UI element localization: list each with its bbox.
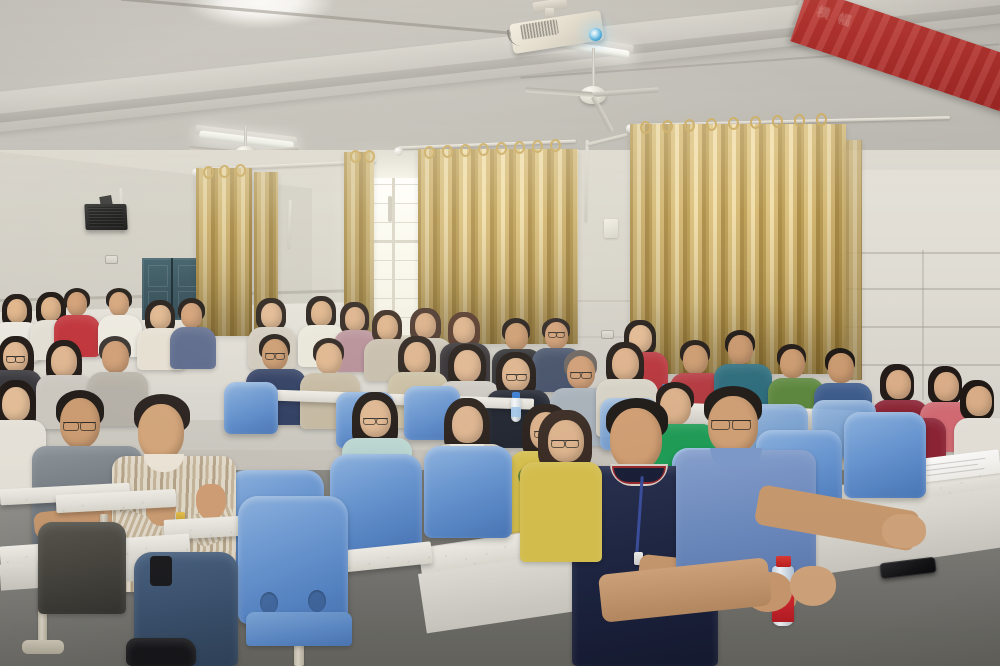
- head: [452, 406, 483, 443]
- curtain-grommet: [424, 146, 435, 159]
- curtain-grommet: [514, 141, 525, 154]
- head: [453, 317, 475, 343]
- curtain-grommet: [706, 118, 717, 131]
- window-frame: [368, 240, 420, 243]
- curtain-grommet: [532, 140, 543, 153]
- head: [612, 348, 639, 380]
- chair-back-front[interactable]: [844, 412, 926, 498]
- door-panel: [178, 265, 198, 287]
- legs-trousers: [38, 522, 126, 614]
- head: [51, 346, 77, 377]
- head: [311, 301, 332, 326]
- water-bottle-mid[interactable]: [510, 392, 522, 422]
- curtain-grommet: [350, 150, 361, 163]
- curtain-grommet: [816, 113, 827, 126]
- curtain-rod-finial: [394, 147, 403, 156]
- head: [109, 292, 129, 316]
- bottle-cap: [512, 392, 520, 398]
- head: [2, 387, 30, 421]
- curtain-grommet: [364, 150, 375, 163]
- head: [261, 303, 282, 328]
- curtain-grommet: [640, 121, 651, 134]
- curtain-grommet: [550, 139, 561, 152]
- curtain-grommet: [219, 165, 230, 178]
- head: [828, 353, 854, 383]
- window-latch[interactable]: [388, 196, 392, 222]
- hand: [882, 514, 926, 548]
- head: [377, 315, 398, 340]
- glasses: [265, 353, 285, 360]
- glasses: [711, 420, 751, 431]
- chair-back-foreground[interactable]: [238, 496, 348, 624]
- projector-cable: [507, 30, 521, 46]
- head: [610, 408, 662, 470]
- curtain-grommet: [478, 143, 489, 156]
- head: [415, 313, 436, 338]
- curtain-grommet: [235, 164, 246, 177]
- conduit-junction-box: [604, 219, 618, 238]
- glasses: [6, 356, 25, 363]
- ceiling-fan-center: [528, 48, 658, 108]
- hand: [196, 484, 226, 520]
- head: [7, 299, 27, 323]
- glasses: [506, 374, 527, 381]
- curtain-far-right[interactable]: [846, 140, 862, 380]
- glasses: [63, 422, 96, 432]
- door-panel: [148, 265, 168, 287]
- head: [316, 343, 342, 374]
- curtain-shading: [846, 140, 862, 380]
- chair-back-front[interactable]: [424, 446, 512, 538]
- head: [67, 292, 87, 316]
- bottle-label: [511, 407, 521, 417]
- wall-tile-seam: [922, 250, 924, 400]
- curtain-grommet: [728, 117, 739, 130]
- head: [886, 370, 911, 399]
- body: [170, 327, 216, 369]
- curtain-grommet: [460, 144, 471, 157]
- fan-rod: [592, 48, 595, 88]
- chair-hole: [260, 592, 278, 614]
- lecture-hall-photo: 横幅: [0, 0, 1000, 666]
- curtain-grommet: [772, 115, 783, 128]
- curtain-grommet: [662, 120, 673, 133]
- head: [454, 350, 481, 382]
- head: [150, 305, 171, 329]
- head: [138, 404, 184, 460]
- curtain-center[interactable]: [418, 149, 578, 344]
- chair-hole: [308, 590, 326, 612]
- curtain-grommet: [794, 114, 805, 127]
- speaker-grille: [88, 207, 123, 227]
- curtain-grommet: [442, 145, 453, 158]
- wall-speaker: [84, 204, 127, 230]
- fan-rod: [244, 126, 247, 148]
- glasses: [570, 372, 592, 379]
- curtain-grommet: [750, 116, 761, 129]
- curtain-grommet: [684, 119, 695, 132]
- shoe: [126, 638, 196, 666]
- bottle-cap: [776, 556, 791, 567]
- chair-foot: [22, 640, 64, 654]
- head: [966, 386, 992, 416]
- wall-outlet[interactable]: [601, 330, 614, 339]
- wall-outlet[interactable]: [105, 255, 118, 264]
- chair-back[interactable]: [224, 382, 278, 434]
- chair-seat[interactable]: [246, 612, 352, 646]
- head: [934, 372, 959, 401]
- curtain-grommet: [496, 142, 507, 155]
- head: [728, 335, 753, 364]
- head: [181, 303, 202, 328]
- glasses: [363, 418, 388, 426]
- curtain-shading: [418, 149, 578, 344]
- head: [780, 349, 805, 378]
- head: [683, 345, 708, 374]
- body: [520, 462, 602, 562]
- head: [102, 341, 129, 373]
- belt-pouch: [150, 556, 172, 586]
- hand: [790, 566, 836, 606]
- head: [404, 342, 430, 373]
- head: [345, 307, 365, 331]
- glasses: [548, 332, 565, 338]
- glasses: [551, 440, 579, 449]
- projector-lens: [589, 28, 602, 41]
- curtain-grommet: [203, 166, 214, 179]
- head: [505, 323, 528, 350]
